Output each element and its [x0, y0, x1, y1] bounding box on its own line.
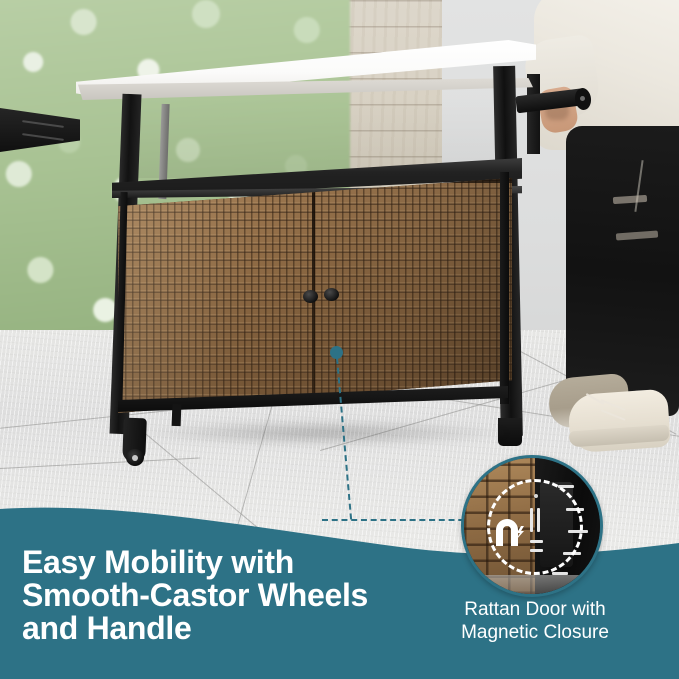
caster-bolt: [132, 455, 138, 461]
page-title: Easy Mobility with Smooth-Castor Wheels …: [22, 546, 442, 645]
inset-ground: [464, 575, 600, 594]
magnet-icon: [491, 515, 525, 549]
cabinet-side-frame-right: [500, 172, 509, 404]
product-feature-image: Easy Mobility with Smooth-Castor Wheels …: [0, 0, 679, 679]
cabinet-ground-shadow: [140, 420, 510, 446]
knob-icon[interactable]: [303, 290, 318, 303]
callout-caption: Rattan Door with Magnetic Closure: [420, 598, 650, 644]
side-hook-bracket: [0, 108, 80, 152]
knob-icon[interactable]: [324, 288, 339, 301]
inset-tick: [552, 572, 568, 575]
handle-bolt: [580, 96, 585, 101]
